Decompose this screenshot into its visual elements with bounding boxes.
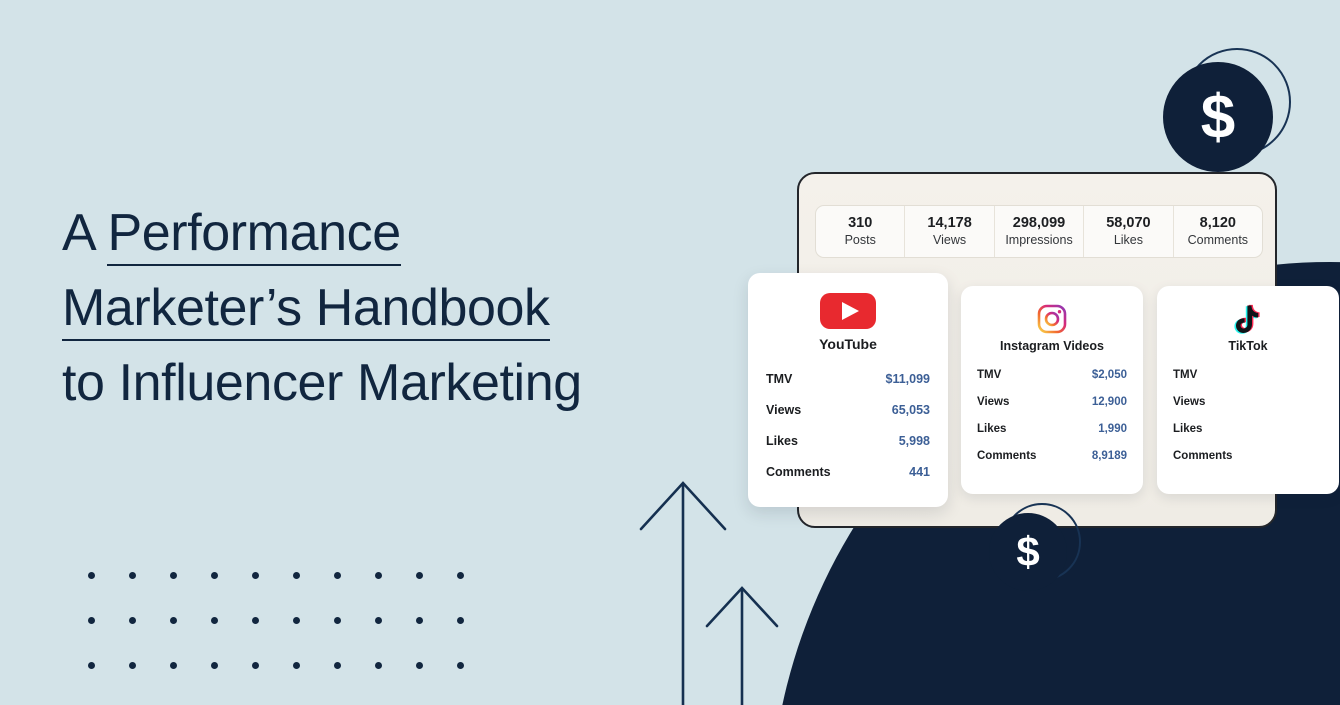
metric-row: Likes 1,990 [977, 423, 1127, 435]
metric-label: Views [1173, 396, 1205, 408]
platform-card-tiktok: TikTok TMV Views Likes Comments [1157, 286, 1339, 494]
metric-row: TMV $11,099 [766, 372, 930, 386]
metric-label: Comments [766, 465, 831, 479]
stat-value: 298,099 [1013, 215, 1065, 232]
platform-card-instagram: Instagram Videos TMV $2,050 Views 12,900… [961, 286, 1143, 494]
dot [129, 662, 136, 669]
platform-name: Instagram Videos [977, 339, 1127, 353]
dot [293, 662, 300, 669]
metric-label: TMV [1173, 369, 1197, 381]
dot [375, 572, 382, 579]
stat-views: 14,178 Views [905, 206, 994, 257]
metric-label: Views [766, 403, 801, 417]
dot [416, 617, 423, 624]
metric-row: Comments 8,9189 [977, 450, 1127, 462]
growth-arrow-short [693, 578, 793, 705]
headline-underlined-1: Performance [107, 204, 400, 266]
dot [170, 662, 177, 669]
headline-prefix: A [62, 204, 107, 262]
dot [457, 572, 464, 579]
stat-impressions: 298,099 Impressions [995, 206, 1084, 257]
metric-value: $11,099 [886, 372, 931, 386]
dot [293, 617, 300, 624]
stat-value: 310 [848, 215, 872, 232]
dot [416, 662, 423, 669]
dot [334, 617, 341, 624]
metric-label: Likes [977, 423, 1006, 435]
metric-value: 5,998 [899, 434, 930, 448]
dollar-icon: $ [1163, 62, 1273, 172]
metric-label: Comments [977, 450, 1036, 462]
page-title: A Performance Marketer’s Handbook to Inf… [62, 196, 582, 421]
metric-list: TMV $11,099 Views 65,053 Likes 5,998 Com… [766, 372, 930, 479]
stat-label: Posts [845, 232, 876, 249]
headline-line-3: to Influencer Marketing [62, 346, 582, 421]
platform-name: YouTube [766, 336, 930, 352]
metric-row: Comments 441 [766, 465, 930, 479]
dot [211, 617, 218, 624]
metric-value: 65,053 [892, 403, 930, 417]
metric-value: 1,990 [1098, 423, 1127, 435]
headline-line-2: Marketer’s Handbook [62, 271, 582, 346]
headline-line-1: A Performance [62, 196, 582, 271]
dot [252, 662, 259, 669]
dollar-badge-small: $ [989, 503, 1077, 591]
dot [375, 617, 382, 624]
stat-label: Views [933, 232, 966, 249]
dot [88, 572, 95, 579]
metric-list: TMV $2,050 Views 12,900 Likes 1,990 Comm… [977, 369, 1127, 462]
dot [170, 572, 177, 579]
metric-row: Views 12,900 [977, 396, 1127, 408]
metric-row: Views [1173, 396, 1323, 408]
metric-label: Comments [1173, 450, 1232, 462]
summary-stats-bar: 310 Posts 14,178 Views 298,099 Impressio… [815, 205, 1263, 258]
metric-value: $2,050 [1092, 369, 1127, 381]
dot [88, 662, 95, 669]
dot [375, 662, 382, 669]
decorative-dot-grid [88, 572, 498, 705]
stat-label: Comments [1188, 232, 1248, 249]
dollar-icon: $ [989, 513, 1067, 591]
stat-value: 58,070 [1106, 215, 1150, 232]
dot [129, 572, 136, 579]
instagram-icon [977, 298, 1127, 334]
platform-name: TikTok [1173, 339, 1323, 353]
metric-label: TMV [766, 372, 792, 386]
metric-label: Likes [1173, 423, 1202, 435]
stat-value: 8,120 [1200, 215, 1236, 232]
dot [170, 617, 177, 624]
metric-value: 441 [909, 465, 930, 479]
metric-row: Views 65,053 [766, 403, 930, 417]
stat-value: 14,178 [927, 215, 971, 232]
dot [129, 617, 136, 624]
stat-label: Impressions [1005, 232, 1072, 249]
stat-likes: 58,070 Likes [1084, 206, 1173, 257]
dot [334, 662, 341, 669]
tiktok-icon [1173, 298, 1323, 334]
dot [416, 572, 423, 579]
dot [334, 572, 341, 579]
poster-canvas: A Performance Marketer’s Handbook to Inf… [0, 0, 1340, 705]
headline-underlined-2: Marketer’s Handbook [62, 279, 550, 341]
metric-list: TMV Views Likes Comments [1173, 369, 1323, 462]
stat-posts: 310 Posts [816, 206, 905, 257]
dot [252, 572, 259, 579]
dot [211, 662, 218, 669]
metric-value: 8,9189 [1092, 450, 1127, 462]
metric-row: TMV [1173, 369, 1323, 381]
dot [457, 617, 464, 624]
metric-row: Comments [1173, 450, 1323, 462]
dot [211, 572, 218, 579]
metric-label: Views [977, 396, 1009, 408]
metric-label: TMV [977, 369, 1001, 381]
dot [457, 662, 464, 669]
dollar-badge-large: $ [1163, 48, 1287, 172]
dot [252, 617, 259, 624]
metric-row: Likes [1173, 423, 1323, 435]
metric-row: TMV $2,050 [977, 369, 1127, 381]
dot [88, 617, 95, 624]
youtube-icon [766, 287, 930, 331]
metric-row: Likes 5,998 [766, 434, 930, 448]
metric-label: Likes [766, 434, 798, 448]
stat-comments: 8,120 Comments [1174, 206, 1262, 257]
stat-label: Likes [1114, 232, 1143, 249]
platform-card-youtube: YouTube TMV $11,099 Views 65,053 Likes 5… [748, 273, 948, 507]
dot [293, 572, 300, 579]
metric-value: 12,900 [1092, 396, 1127, 408]
